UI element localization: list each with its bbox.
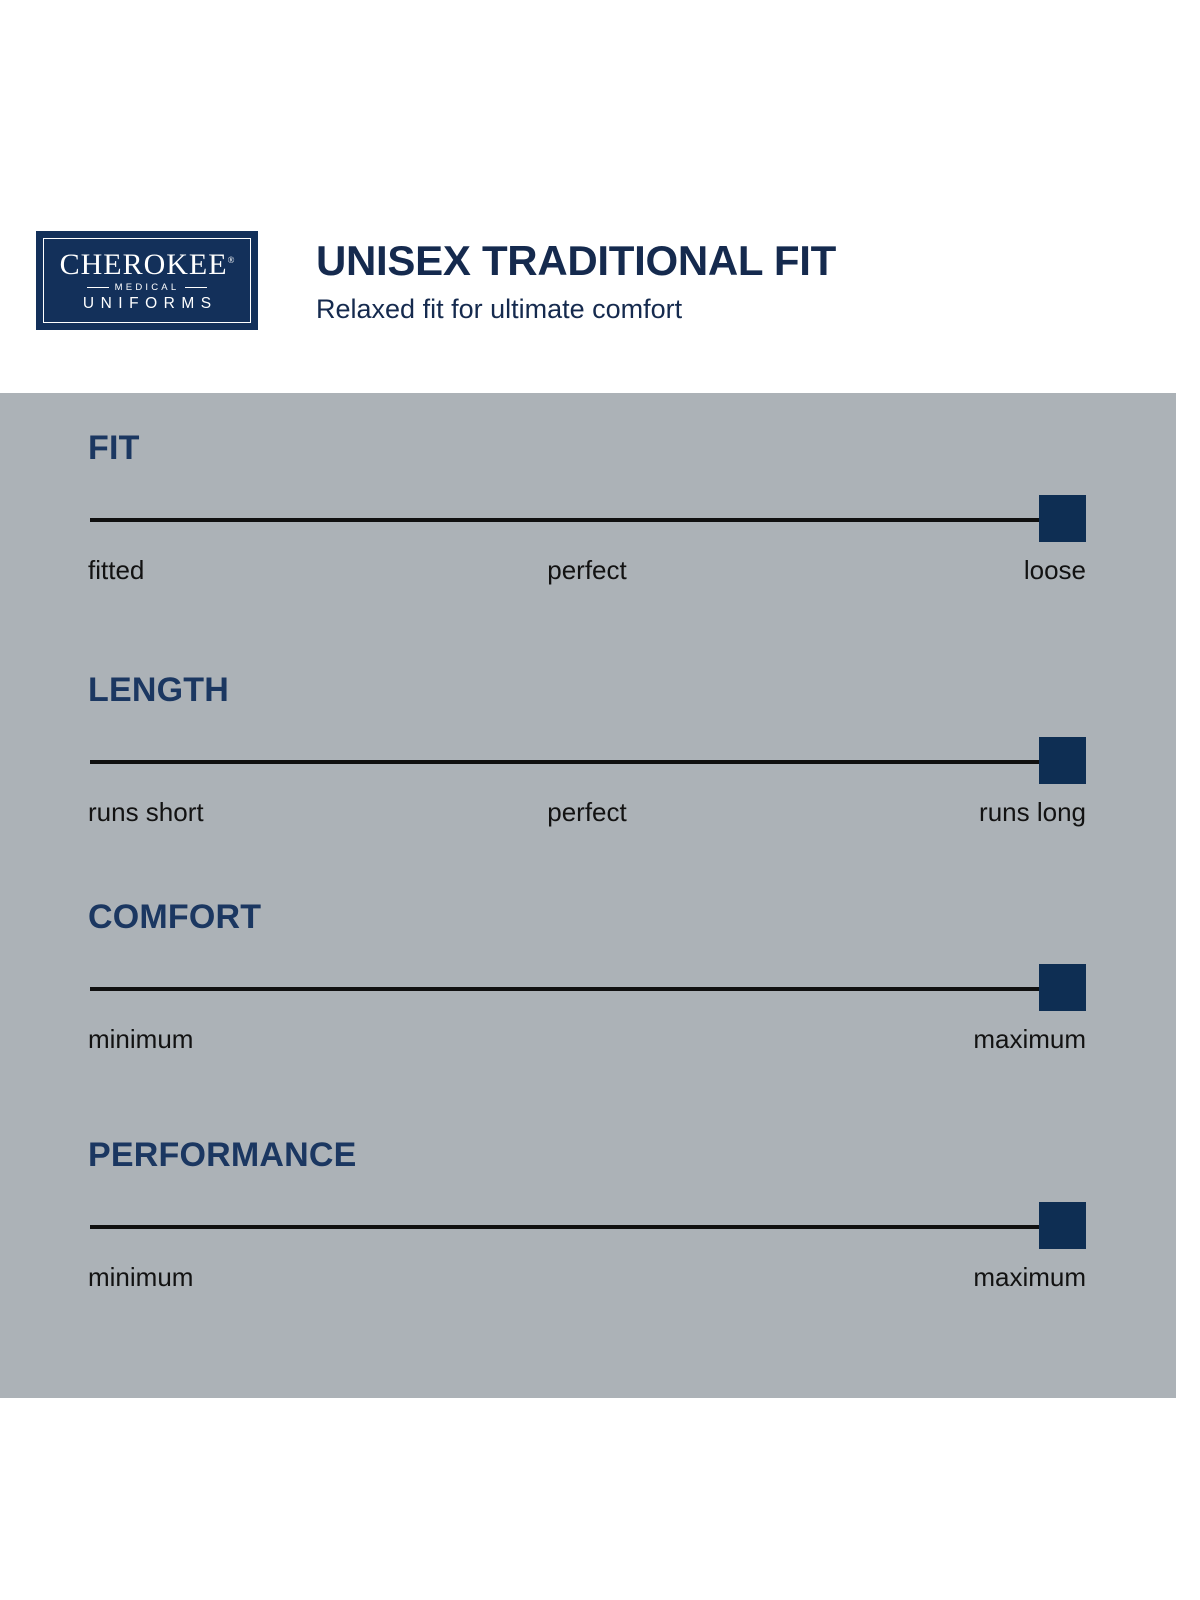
scale-label-right: maximum [973,1262,1086,1293]
logo-medical-line: MEDICAL [87,283,208,293]
scale-label-center: perfect [547,797,627,828]
logo-uniforms-text: UNIFORMS [76,296,217,312]
scale-label-center: perfect [547,555,627,586]
scale-row-fit: FIT fitted perfect loose [88,431,1086,589]
page-title: UNISEX TRADITIONAL FIT [316,240,836,282]
scale-track-line [90,518,1039,522]
registered-trademark-icon: ® [228,255,235,265]
scale-row-length: LENGTH runs short perfect runs long [88,673,1086,831]
logo-wordmark: CHEROKEE® [60,250,235,280]
scale-label-left: minimum [88,1262,193,1293]
scale-track[interactable] [88,964,1086,1012]
page-subtitle: Relaxed fit for ultimate comfort [316,296,836,323]
scale-marker[interactable] [1039,737,1086,784]
scale-label-right: runs long [979,797,1086,828]
scale-label-group: fitted perfect loose [88,555,1086,589]
scale-label-group: runs short perfect runs long [88,797,1086,831]
scale-heading: PERFORMANCE [88,1138,1086,1172]
scale-label-right: maximum [973,1024,1086,1055]
scale-heading: COMFORT [88,900,1086,934]
fit-scales-panel: FIT fitted perfect loose LENGTH runs sho… [0,393,1176,1398]
logo-inner-border: CHEROKEE® MEDICAL UNIFORMS [43,238,251,323]
scale-label-left: minimum [88,1024,193,1055]
scale-track-line [90,987,1039,991]
scale-track[interactable] [88,737,1086,785]
logo-rule-left-icon [87,287,109,289]
scale-label-group: minimum maximum [88,1262,1086,1296]
logo-rule-right-icon [185,287,207,289]
page-header: CHEROKEE® MEDICAL UNIFORMS UNISEX TRADIT… [0,0,1200,393]
scale-marker[interactable] [1039,495,1086,542]
title-block: UNISEX TRADITIONAL FIT Relaxed fit for u… [316,240,836,323]
scale-heading: LENGTH [88,673,1086,707]
logo-medical-text: MEDICAL [115,283,180,293]
scale-heading: FIT [88,431,1086,465]
scale-track[interactable] [88,1202,1086,1250]
cherokee-logo: CHEROKEE® MEDICAL UNIFORMS [36,231,258,330]
scale-label-group: minimum maximum [88,1024,1086,1058]
scale-row-comfort: COMFORT minimum maximum [88,900,1086,1058]
scale-label-left: runs short [88,797,204,828]
scale-track-line [90,760,1039,764]
scale-label-right: loose [1024,555,1086,586]
scale-marker[interactable] [1039,1202,1086,1249]
scale-track-line [90,1225,1039,1229]
scale-label-left: fitted [88,555,144,586]
scale-track[interactable] [88,495,1086,543]
scale-row-performance: PERFORMANCE minimum maximum [88,1138,1086,1296]
scale-marker[interactable] [1039,964,1086,1011]
logo-wordmark-text: CHEROKEE [60,248,228,281]
